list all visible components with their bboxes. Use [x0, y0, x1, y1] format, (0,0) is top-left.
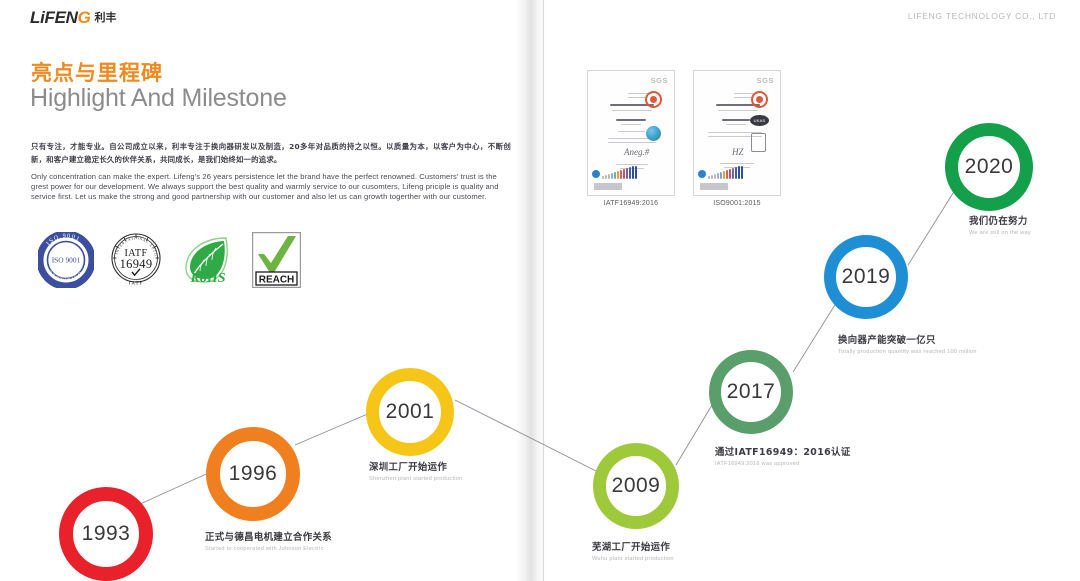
- lifeng-logo: LiFENG 利丰: [30, 9, 117, 26]
- certificate-seal-icon: [645, 91, 662, 108]
- timeline-label-2017: 通过IATF16949：2016认证 IATF16949:2016 was ap…: [715, 444, 851, 467]
- certificate-globe-icon: [646, 126, 661, 141]
- sgs-logo: SGS: [651, 76, 668, 85]
- intro-paragraph-english: Only concentration can make the expert. …: [31, 172, 509, 203]
- timeline-label-2019-en: Totally production quanlity was reached …: [838, 349, 977, 355]
- timeline-node-1993[interactable]: 1993: [59, 487, 153, 581]
- svg-text:RoHS: RoHS: [189, 271, 225, 286]
- certificate-seal-icon: [751, 91, 768, 108]
- sgs-logo: SGS: [757, 76, 774, 85]
- timeline-label-1996-cn: 正式与德昌电机建立合作关系: [205, 529, 332, 543]
- iatf-16949-icon: INTERNATIONAL AUTOMOTIVE TASK FORCE IATF…: [110, 232, 162, 288]
- timeline-label-2019-cn: 换向器产能突破一亿只: [838, 332, 977, 346]
- timeline-year-2001: 2001: [386, 400, 435, 424]
- timeline-ring-2019: 2019: [824, 235, 908, 319]
- timeline-label-1996-en: Started to cooperated with Johnson Elect…: [205, 546, 332, 552]
- timeline-label-2020-en: We are still on the way: [969, 230, 1031, 236]
- logo-wordmark: LiFENG: [30, 9, 91, 26]
- rohs-badge: RoHS: [178, 232, 236, 288]
- certificate-footer-block: [594, 183, 622, 190]
- timeline-ring-2001: 2001: [366, 368, 454, 456]
- timeline-node-2017[interactable]: 2017: [709, 350, 793, 434]
- timeline-label-1996: 正式与德昌电机建立合作关系 Started to cooperated with…: [205, 529, 332, 552]
- timeline-year-2020: 2020: [965, 155, 1014, 179]
- rohs-icon: RoHS: [178, 232, 236, 288]
- iso-certificate-caption: ISO9001:2015: [693, 200, 781, 207]
- svg-text:ISO 9001: ISO 9001: [52, 256, 81, 265]
- timeline-label-2017-en: IATF16949:2016 was approved: [715, 461, 851, 467]
- iso-certificate-image: SGS UKAS HZ: [693, 70, 781, 196]
- company-name: LIFENG TECHNOLOGY CO., LTD: [908, 11, 1056, 21]
- timeline-node-2019[interactable]: 2019: [824, 235, 908, 319]
- timeline-label-2019: 换向器产能突破一亿只 Totally production quanlity w…: [838, 332, 977, 355]
- reach-icon: REACH: [252, 232, 301, 288]
- certificate-footer-block: [700, 183, 728, 190]
- timeline-label-2009-cn: 芜湖工厂开始运作: [592, 539, 674, 553]
- iso-9001-icon: ISO 9001 CERTIFIED ISO 9001: [38, 232, 94, 288]
- timeline-label-2009-en: Wuhu plant started production: [592, 556, 674, 562]
- timeline-year-2009: 2009: [612, 474, 661, 498]
- timeline-year-2019: 2019: [842, 265, 891, 289]
- timeline-ring-2009: 2009: [593, 443, 679, 529]
- intro-paragraph-chinese: 只有专注，才能专业。自公司成立以来，利丰专注于换向器研发以及制造，20多年对品质…: [31, 140, 511, 166]
- timeline-year-2017: 2017: [727, 380, 776, 404]
- timeline-label-2009: 芜湖工厂开始运作 Wuhu plant started production: [592, 539, 674, 562]
- timeline-node-2020[interactable]: 2020: [945, 123, 1033, 211]
- timeline-label-2001-en: Shenzhen plant started production: [369, 476, 462, 482]
- timeline-node-1996[interactable]: 1996: [206, 427, 300, 521]
- timeline-label-2020: 我们仍在努力 We are still on the way: [969, 213, 1031, 236]
- logo-main-text: LiFEN: [30, 8, 78, 27]
- timeline-label-2020-cn: 我们仍在努力: [969, 213, 1031, 227]
- iso-9001-badge: ISO 9001 CERTIFIED ISO 9001: [38, 232, 94, 288]
- certificate-rainbow-graphic: [602, 166, 658, 179]
- timeline-ring-1993: 1993: [59, 487, 153, 581]
- svg-text:REACH: REACH: [259, 275, 295, 286]
- timeline-ring-2020: 2020: [945, 123, 1033, 211]
- iatf-certificate-image: SGS Aneg.#: [587, 70, 675, 196]
- certificate-dot-icon: [698, 170, 706, 178]
- logo-accent-letter: G: [78, 8, 91, 27]
- svg-text:16949: 16949: [120, 257, 153, 271]
- certification-badges: ISO 9001 CERTIFIED ISO 9001 INTERNATIONA…: [38, 232, 301, 288]
- timeline-node-2009[interactable]: 2009: [593, 443, 679, 529]
- connector-1996-2001: [295, 410, 377, 445]
- timeline-year-1993: 1993: [82, 522, 131, 546]
- timeline-year-1996: 1996: [229, 462, 278, 486]
- timeline-ring-1996: 1996: [206, 427, 300, 521]
- reach-badge: REACH: [252, 232, 301, 288]
- timeline-label-2001-cn: 深圳工厂开始运作: [369, 459, 462, 473]
- certificate-rainbow-graphic: [708, 166, 764, 179]
- iatf-certificate-caption: IATF16949:2016: [587, 200, 675, 207]
- page-fold-line: [543, 0, 544, 581]
- timeline-node-2001[interactable]: 2001: [366, 368, 454, 456]
- logo-chinese-text: 利丰: [95, 12, 117, 23]
- svg-text:IATF: IATF: [129, 282, 144, 287]
- iso-certificate: SGS UKAS HZ ISO9001:2015: [693, 70, 781, 207]
- page-fold-shadow: [516, 0, 546, 581]
- certificate-mark-icon: [751, 133, 766, 152]
- iatf-certificate: SGS Aneg.# IATF16949:2016: [587, 70, 675, 207]
- page-title-english: Highlight And Milestone: [30, 84, 287, 113]
- timeline-ring-2017: 2017: [709, 350, 793, 434]
- timeline-label-2017-cn: 通过IATF16949：2016认证: [715, 444, 851, 458]
- timeline-label-2001: 深圳工厂开始运作 Shenzhen plant started producti…: [369, 459, 462, 482]
- certificate-dot-icon: [592, 170, 600, 178]
- iatf-16949-badge: INTERNATIONAL AUTOMOTIVE TASK FORCE IATF…: [110, 232, 162, 288]
- certificate-accreditation-icon: UKAS: [750, 115, 769, 126]
- page-title-chinese: 亮点与里程碑: [31, 57, 163, 87]
